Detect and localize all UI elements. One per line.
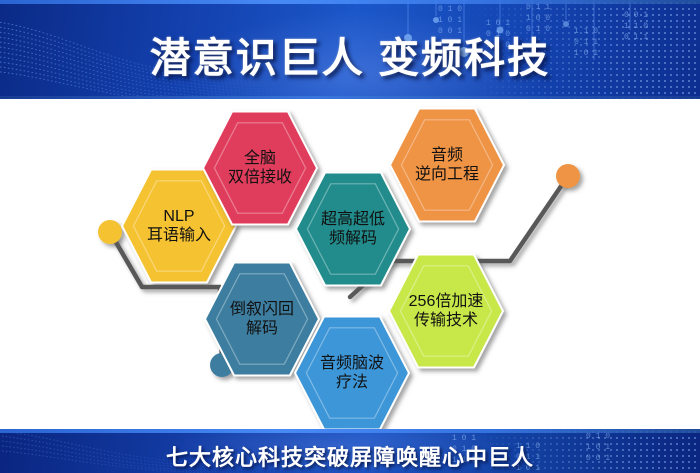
left-connector-dot — [98, 220, 122, 244]
page-title: 潜意识巨人 变频科技 — [0, 24, 700, 84]
slide-canvas: 0 1 0 1 0 1 0 0 1 1 0 1 0 1 0 1 1 0 0 1 … — [0, 0, 700, 473]
hexagon-audio-reverse-engineering[interactable] — [390, 109, 504, 222]
footer-banner: 1 0 1 0 1 0 1 1 0 1 1 0 0 1 1 1 0 1 0 1 … — [0, 429, 700, 473]
header-banner: 0 1 0 1 0 1 0 0 1 1 0 1 0 1 0 1 1 0 0 1 … — [0, 0, 700, 99]
hexagon-diagram: NLP耳语输入全脑双倍接收超高超低频解码音频逆向工程倒叙闪回解码音频脑波疗法25… — [0, 99, 700, 429]
hexagon-shapes — [122, 109, 504, 430]
hexagon-256x-accelerated-transmission[interactable] — [389, 255, 503, 368]
footer-title: 七大核心科技突破屏障唤醒心中巨人 — [0, 440, 700, 472]
hexagon-diagram-svg — [0, 99, 700, 429]
hexagon-ultra-high-low-frequency-decoding[interactable] — [296, 173, 410, 286]
banner-top-edge — [0, 0, 700, 4]
footer-top-edge — [0, 429, 700, 433]
right-connector-dot — [556, 164, 580, 188]
